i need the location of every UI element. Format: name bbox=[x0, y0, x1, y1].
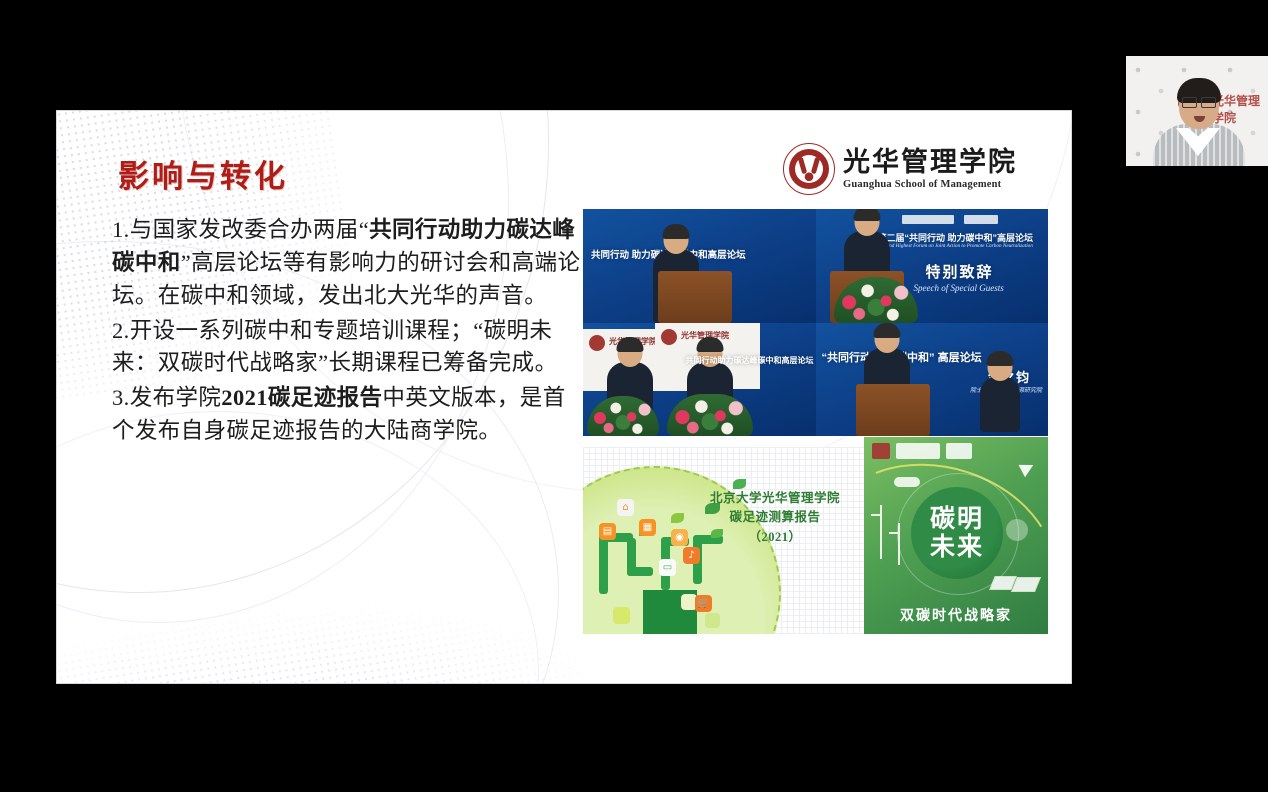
report-title-line1: 北京大学光华管理学院 bbox=[700, 489, 850, 508]
peking-university-seal-icon bbox=[783, 143, 835, 195]
report-icon-monitor: ▭ bbox=[659, 559, 676, 576]
guanghua-logo: 光华管理学院 Guanghua School of Management bbox=[783, 139, 1023, 199]
list-item-emphasis: 2021碳足迹报告 bbox=[221, 385, 382, 410]
forum-photo-2: 第二届“共同行动 助力碳中和”高层论坛 The 2nd Highest Foru… bbox=[816, 209, 1049, 323]
photo2-sponsor-logo bbox=[964, 215, 998, 224]
list-item-lead: 开设一系列碳中和专题培训课程； bbox=[130, 318, 474, 343]
screen-root: 影响与转化 1.与国家发改委合办两届“共同行动助力碳达峰碳中和”高层论坛等有影响… bbox=[0, 0, 1268, 792]
photo4-backdrop-seal-icon bbox=[661, 329, 677, 345]
course-title-line1: 碳明 bbox=[930, 505, 984, 533]
paper-plane-icon bbox=[1018, 459, 1036, 477]
photo4-backdrop-seal-icon bbox=[589, 335, 605, 351]
photo4-flowers-2 bbox=[667, 394, 753, 436]
list-item: 3.发布学院2021碳足迹报告中英文版本，是首个发布自身碳足迹报告的大陆商学院。 bbox=[112, 382, 582, 448]
list-item: 1.与国家发改委合办两届“共同行动助力碳达峰碳中和”高层论坛等有影响力的研讨会和… bbox=[112, 214, 582, 313]
photo5-podium bbox=[856, 384, 930, 436]
photo4-banner-text: 共同行动助力碳达峰碳中和高层论坛 bbox=[686, 355, 814, 366]
photo1-podium bbox=[658, 271, 732, 323]
list-item-lead: 与国家发改委合办两届 bbox=[130, 217, 359, 242]
photo2-headline-english: Speech of Special Guests bbox=[914, 283, 1004, 293]
list-item-number: 1. bbox=[112, 217, 130, 242]
list-item-lead: 发布学院 bbox=[130, 385, 222, 410]
photo5-speaker-figure-2 bbox=[980, 376, 1020, 432]
logo-text-block: 光华管理学院 Guanghua School of Management bbox=[843, 148, 1017, 189]
forum-photo-1: 共同行动 助力碳达峰碳中和高层论坛 bbox=[583, 209, 816, 323]
report-leaf-icon bbox=[733, 479, 746, 489]
report-leaf-icon-3 bbox=[671, 513, 684, 523]
course-logo-seal-icon bbox=[872, 443, 890, 459]
quote-close: ” bbox=[181, 250, 191, 275]
logo-english-name: Guanghua School of Management bbox=[843, 179, 1017, 190]
course-logo-guanghua bbox=[896, 443, 940, 459]
course-title-line2: 未来 bbox=[930, 533, 984, 561]
report-icon-doc: ▤ bbox=[599, 523, 616, 540]
report-icon-book: ▦ bbox=[639, 519, 656, 536]
carbon-footprint-report-cover: ⌂ ▤ ▦ ◉ ♪ ▭ 🛒 北京大学光华管理学院 碳足迹测算报告 （2021） bbox=[583, 447, 864, 634]
list-item: 2.开设一系列碳中和专题培训课程；“碳明未来：双碳时代战略家”长期课程已筹备完成… bbox=[112, 315, 582, 381]
forum-photo-4: 光华管理学院 光华管理学院 共同行动助力碳达峰碳中和高层论坛 bbox=[583, 323, 816, 437]
slide-text-column: 影响与转化 1.与国家发改委合办两届“共同行动助力碳达峰碳中和”高层论坛等有影响… bbox=[112, 151, 582, 450]
quote-open: “ bbox=[359, 217, 369, 242]
list-item-number: 3. bbox=[112, 385, 130, 410]
presentation-slide: 影响与转化 1.与国家发改委合办两届“共同行动助力碳达峰碳中和”高层论坛等有影响… bbox=[57, 111, 1071, 683]
list-item-number: 2. bbox=[112, 318, 130, 343]
report-icon-home: ⌂ bbox=[617, 499, 634, 516]
page-title: 影响与转化 bbox=[118, 151, 582, 196]
carbon-course-cover: 碳明 未来 双碳时代战略家 bbox=[864, 437, 1048, 634]
report-icon-cart: 🛒 bbox=[695, 595, 712, 612]
dot-pattern-bottom-left bbox=[57, 449, 582, 683]
report-title-line2: 碳足迹测算报告 bbox=[700, 508, 850, 527]
photo2-banner-subtitle: The 2nd Highest Forum on Joint Action to… bbox=[878, 243, 1033, 249]
forum-photo-collage: 共同行动 助力碳达峰碳中和高层论坛 第二届“共同行动 助力碳中和”高层论坛 Th… bbox=[583, 209, 1048, 436]
course-card-logos bbox=[872, 443, 972, 459]
presenter-glasses-icon bbox=[1182, 97, 1216, 106]
forum-photo-5: “共同行动 助力碳中和” 高层论坛 金之钧 院士、北京大学能源研究院 bbox=[816, 323, 1049, 437]
report-icon-note: ♪ bbox=[683, 547, 700, 564]
course-subtitle: 双碳时代战略家 bbox=[864, 605, 1048, 625]
photo2-sponsor-logo bbox=[902, 215, 954, 224]
cloud-icon bbox=[894, 477, 920, 487]
report-title-block: 北京大学光华管理学院 碳足迹测算报告 （2021） bbox=[700, 489, 850, 547]
slide-body-list: 1.与国家发改委合办两届“共同行动助力碳达峰碳中和”高层论坛等有影响力的研讨会和… bbox=[112, 214, 582, 448]
windmill-icon bbox=[880, 515, 882, 559]
photo2-headline: 特别致辞 bbox=[926, 261, 994, 282]
report-icon-bulb: ◉ bbox=[671, 529, 688, 546]
course-logo-partner bbox=[946, 443, 972, 459]
logo-chinese-name: 光华管理学院 bbox=[843, 148, 1017, 176]
course-title-block: 碳明 未来 bbox=[911, 487, 1003, 579]
report-title-line3: （2021） bbox=[700, 528, 850, 547]
presenter-video-tile[interactable]: 光华管理学院 bbox=[1126, 56, 1268, 166]
decorative-arc bbox=[57, 411, 539, 683]
